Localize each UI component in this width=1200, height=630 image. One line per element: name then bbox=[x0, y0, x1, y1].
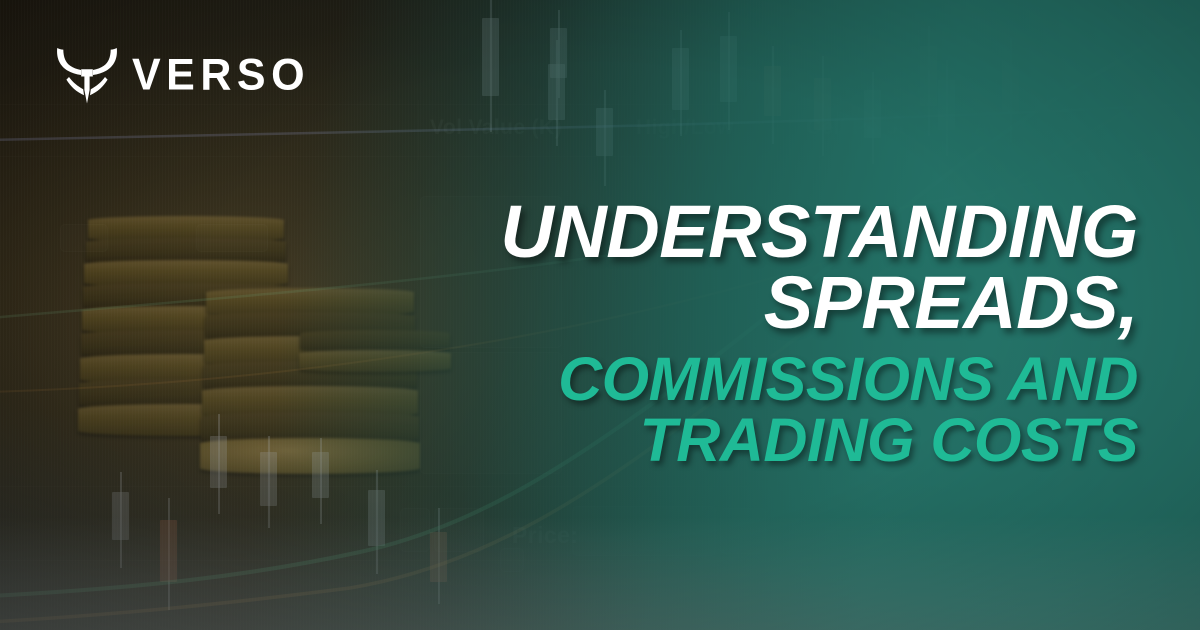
verso-logo[interactable]: VERSO bbox=[55, 46, 310, 104]
bg-legend-line-label: Line bbox=[1150, 452, 1197, 478]
bg-table-header-vol-value: Vol Value (K) bbox=[430, 116, 562, 140]
headline-line-2: SPREADS, bbox=[500, 267, 1138, 338]
bg-table-header-cell-pivot: Cell Pivot bbox=[806, 116, 906, 140]
logo-wordmark: VERSO bbox=[132, 53, 310, 98]
bg-price-label: Price: bbox=[512, 522, 578, 549]
bull-horns-icon bbox=[55, 46, 119, 104]
headline-block: UNDERSTANDING SPREADS, COMMISSIONS AND T… bbox=[500, 196, 1138, 469]
social-share-banner: Vol Value (K) High/Low Cell Pivot Avg Cl… bbox=[0, 0, 1200, 630]
headline-line-4: TRADING COSTS bbox=[500, 411, 1138, 470]
headline-line-3: COMMISSIONS AND bbox=[500, 350, 1138, 409]
headline-line-1: UNDERSTANDING bbox=[500, 196, 1138, 267]
bg-table-header-avg-close: Avg Close bbox=[974, 116, 1080, 140]
bg-table-header-high-low: High/Low bbox=[636, 116, 734, 140]
